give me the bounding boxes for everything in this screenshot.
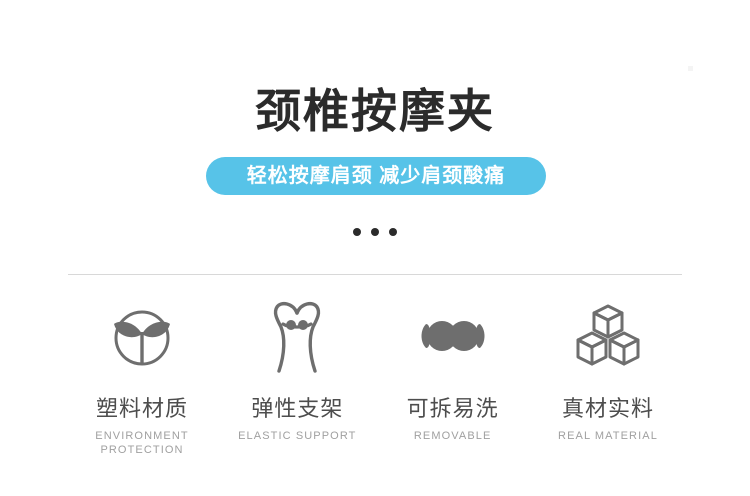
feature-subtitle: REMOVABLE (414, 429, 492, 443)
separator-dot-icon (353, 228, 361, 236)
detachable-pads-icon (416, 296, 490, 376)
subtitle-badge: 轻松按摩肩颈 减少肩颈酸痛 (206, 157, 546, 195)
separator-dot-icon (389, 228, 397, 236)
leaf-circle-icon (106, 296, 178, 376)
neck-massager-clip-icon (265, 296, 329, 376)
feature-subtitle: ENVIRONMENT PROTECTION (82, 429, 202, 457)
feature-item: 弹性支架 ELASTIC SUPPORT (223, 296, 371, 443)
stacked-cubes-icon (572, 296, 644, 376)
hero-section: 颈椎按摩夹 轻松按摩肩颈 减少肩颈酸痛 (0, 0, 750, 274)
feature-subtitle: REAL MATERIAL (558, 429, 658, 443)
feature-title: 塑料材质 (96, 396, 188, 422)
feature-list: 塑料材质 ENVIRONMENT PROTECTION 弹性支架 ELASTIC… (68, 296, 682, 457)
separator-dot-icon (371, 228, 379, 236)
feature-item: 可拆易洗 REMOVABLE (379, 296, 527, 443)
section-divider (68, 274, 682, 275)
feature-item: 塑料材质 ENVIRONMENT PROTECTION (68, 296, 216, 457)
dot-separator (0, 228, 750, 236)
subtitle-badge-label: 轻松按摩肩颈 减少肩颈酸痛 (247, 166, 506, 186)
feature-title: 真材实料 (562, 396, 654, 422)
feature-subtitle: ELASTIC SUPPORT (238, 429, 356, 443)
feature-title: 弹性支架 (251, 396, 343, 422)
corner-artifact (688, 66, 693, 71)
feature-title: 可拆易洗 (407, 396, 499, 422)
feature-item: 真材实料 REAL MATERIAL (534, 296, 682, 443)
page-title: 颈椎按摩夹 (0, 83, 750, 139)
